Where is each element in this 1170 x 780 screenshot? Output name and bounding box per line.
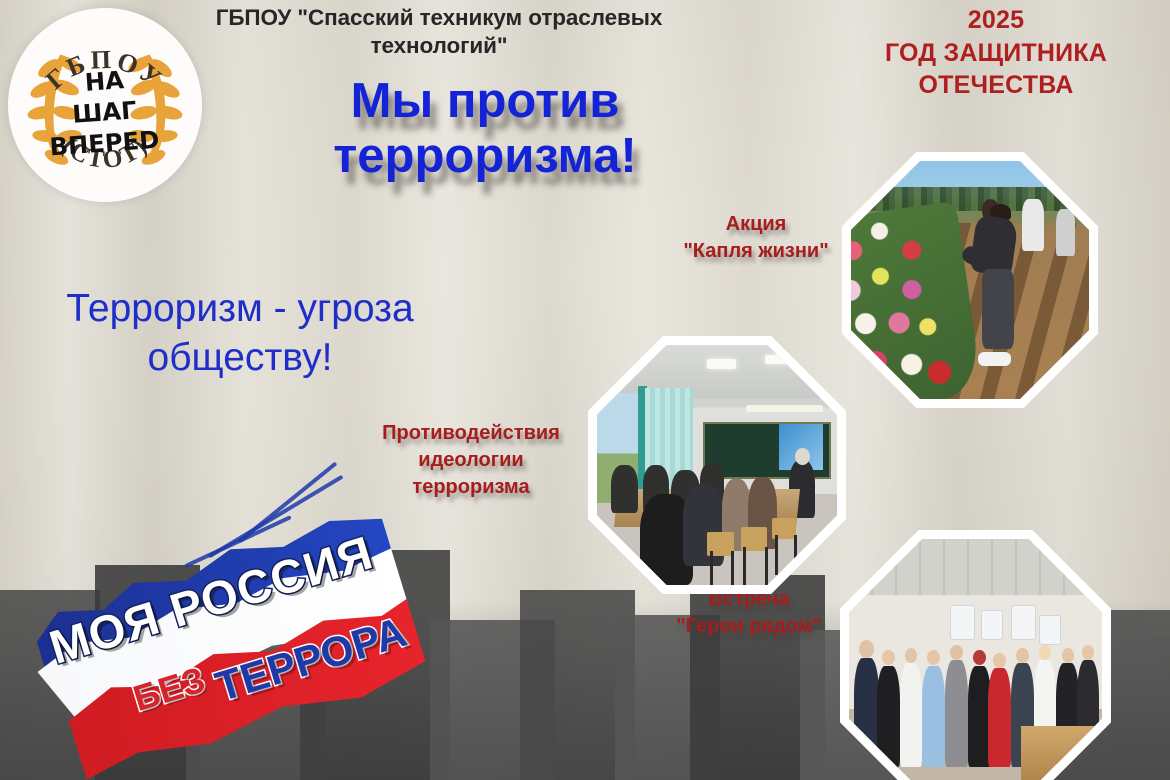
photo-group-image [849,539,1102,780]
college-logo: ГБПОУ (СТОТ) НА ШАГ ВПЕРЕD [8,8,202,202]
caption-meet-line-2: "Герои рядом" [640,613,858,640]
caption-ideo-line-2: идеологии [356,447,586,474]
year-line-1: ГОД ЗАЩИТНИКА [846,37,1146,70]
silhouette-figure [430,620,555,780]
photo-drop-of-life-image [851,161,1089,399]
my-russia-without-terror-banner: МОЯ РОССИЯ БЕЗ ТЕРРОРА [2,468,448,780]
subtitle: Терроризм - угроза обществу! [10,285,470,383]
photo-classroom-meeting [588,336,846,594]
photo-classroom-image [597,345,837,585]
main-title-line-1: Мы против [245,74,725,129]
caption-ideo-line-3: терроризма [356,474,586,501]
photo-drop-of-life [842,152,1098,408]
caption-drop-line-2: "Капля жизни" [648,238,864,265]
main-title-line-2: терроризма! [245,129,725,184]
poster-canvas: ГБПОУ (СТОТ) НА ШАГ ВПЕРЕD ГБПОУ "Спасск… [0,0,1170,780]
organization-title: ГБПОУ "Спасский техникум отраслевых техн… [196,4,682,60]
caption-ideo-line-1: Противодействия [356,420,586,447]
year-line-2: ОТЕЧЕСТВА [846,69,1146,102]
main-title: Мы против терроризма! [245,74,725,185]
photo-group-portrait [840,530,1111,780]
subtitle-line-2: обществу! [10,334,470,383]
silhouette-figure [520,590,635,780]
year-of-defender-block: 2025 ГОД ЗАЩИТНИКА ОТЕЧЕСТВА [846,4,1146,102]
subtitle-line-1: Терроризм - угроза [10,285,470,334]
year-value: 2025 [846,4,1146,37]
caption-heroes-nearby: Встреча "Герои рядом" [640,586,858,640]
caption-drop-line-1: Акция [648,211,864,238]
logo-center-line1: НА [84,65,125,97]
caption-drop-of-life: Акция "Капля жизни" [648,211,864,265]
caption-counter-ideology: Противодействия идеологии терроризма [356,420,586,501]
logo-center-line2: ШАГ [71,95,137,128]
